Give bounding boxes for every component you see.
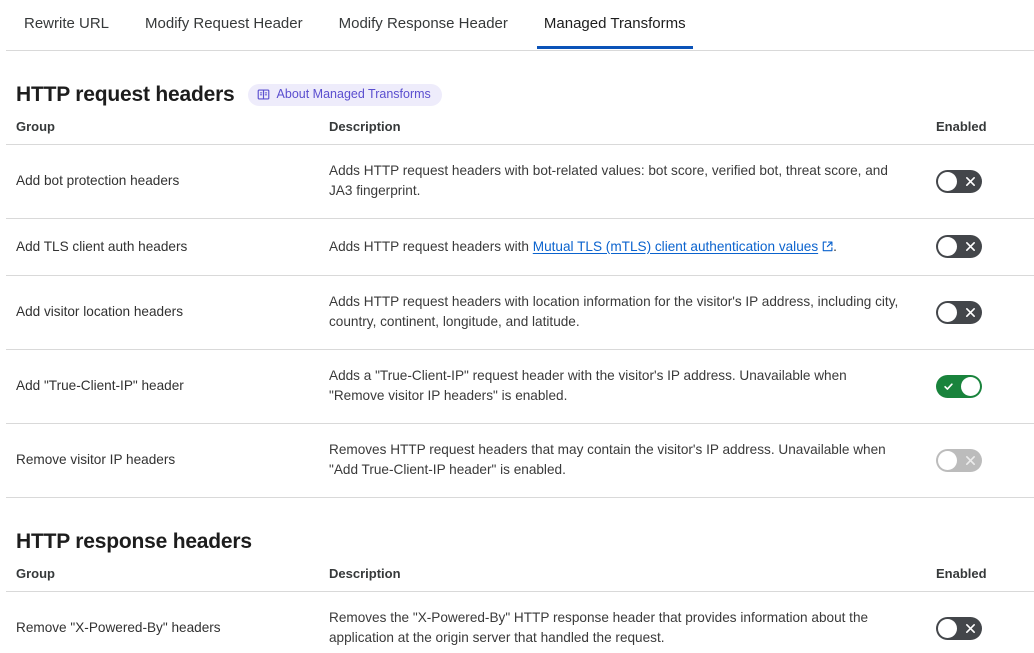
row-description: Adds HTTP request headers with Mutual TL… xyxy=(319,219,924,276)
column-header-group: Group xyxy=(6,566,319,592)
external-link-icon xyxy=(822,238,833,249)
toggle-add-visitor-location-headers[interactable] xyxy=(936,301,982,324)
row-enabled-cell xyxy=(924,592,1034,653)
http-response-headers-section: HTTP response headers Group Description … xyxy=(0,498,1034,653)
column-header-description: Description xyxy=(319,566,924,592)
table-row: Add TLS client auth headers Adds HTTP re… xyxy=(6,219,1034,276)
table-row: Add bot protection headers Adds HTTP req… xyxy=(6,145,1034,219)
tab-bar: Rewrite URL Modify Request Header Modify… xyxy=(0,0,1034,51)
toggle-knob xyxy=(938,303,957,322)
request-section-header: HTTP request headers About Managed Trans… xyxy=(6,51,1028,119)
toggle-remove-visitor-ip-headers xyxy=(936,449,982,472)
close-icon xyxy=(958,235,982,258)
toggle-remove-x-powered-by-headers[interactable] xyxy=(936,617,982,640)
row-group-name: Remove "X-Powered-By" headers xyxy=(6,592,319,653)
row-enabled-cell xyxy=(924,350,1034,424)
toggle-knob xyxy=(938,451,957,470)
close-icon xyxy=(958,301,982,324)
table-row: Add "True-Client-IP" header Adds a "True… xyxy=(6,350,1034,424)
row-description: Adds HTTP request headers with bot-relat… xyxy=(319,145,924,219)
toggle-knob xyxy=(938,619,957,638)
row-enabled-cell xyxy=(924,276,1034,350)
check-icon xyxy=(936,375,960,398)
row-description: Removes the "X-Powered-By" HTTP response… xyxy=(319,592,924,653)
about-badge-label: About Managed Transforms xyxy=(277,87,431,102)
toggle-add-true-client-ip-header[interactable] xyxy=(936,375,982,398)
close-icon xyxy=(958,617,982,640)
row-group-name: Add visitor location headers xyxy=(6,276,319,350)
http-request-headers-section: HTTP request headers About Managed Trans… xyxy=(0,51,1034,498)
row-description: Adds HTTP request headers with location … xyxy=(319,276,924,350)
response-section-title: HTTP response headers xyxy=(16,530,252,554)
table-row: Remove "X-Powered-By" headers Removes th… xyxy=(6,592,1034,653)
table-header-row: Group Description Enabled xyxy=(6,566,1034,592)
tab-rewrite-url[interactable]: Rewrite URL xyxy=(6,0,127,49)
toggle-knob xyxy=(938,237,957,256)
row-group-name: Remove visitor IP headers xyxy=(6,424,319,498)
tab-modify-response-header[interactable]: Modify Response Header xyxy=(321,0,526,49)
request-headers-table: Group Description Enabled Add bot protec… xyxy=(6,119,1034,498)
tab-modify-request-header[interactable]: Modify Request Header xyxy=(127,0,321,49)
row-enabled-cell xyxy=(924,424,1034,498)
close-icon xyxy=(958,449,982,472)
page-title: HTTP request headers xyxy=(16,83,235,107)
table-header-row: Group Description Enabled xyxy=(6,119,1034,145)
toggle-add-tls-client-auth-headers[interactable] xyxy=(936,235,982,258)
column-header-enabled: Enabled xyxy=(924,119,1034,145)
toggle-knob xyxy=(961,377,980,396)
column-header-group: Group xyxy=(6,119,319,145)
tab-managed-transforms[interactable]: Managed Transforms xyxy=(526,0,704,49)
response-section-header: HTTP response headers xyxy=(6,498,1028,566)
table-row: Add visitor location headers Adds HTTP r… xyxy=(6,276,1034,350)
row-enabled-cell xyxy=(924,219,1034,276)
row-group-name: Add TLS client auth headers xyxy=(6,219,319,276)
description-text-pre: Adds HTTP request headers with xyxy=(329,239,533,254)
column-header-enabled: Enabled xyxy=(924,566,1034,592)
about-managed-transforms-badge[interactable]: About Managed Transforms xyxy=(248,84,442,106)
row-group-name: Add bot protection headers xyxy=(6,145,319,219)
mutual-tls-link[interactable]: Mutual TLS (mTLS) client authentication … xyxy=(533,239,818,254)
description-text-post: . xyxy=(833,239,837,254)
column-header-description: Description xyxy=(319,119,924,145)
row-group-name: Add "True-Client-IP" header xyxy=(6,350,319,424)
toggle-knob xyxy=(938,172,957,191)
close-icon xyxy=(958,170,982,193)
response-headers-table: Group Description Enabled Remove "X-Powe… xyxy=(6,566,1034,653)
toggle-add-bot-protection-headers[interactable] xyxy=(936,170,982,193)
row-enabled-cell xyxy=(924,145,1034,219)
row-description: Adds a "True-Client-IP" request header w… xyxy=(319,350,924,424)
book-icon xyxy=(257,88,270,101)
row-description: Removes HTTP request headers that may co… xyxy=(319,424,924,498)
table-row: Remove visitor IP headers Removes HTTP r… xyxy=(6,424,1034,498)
